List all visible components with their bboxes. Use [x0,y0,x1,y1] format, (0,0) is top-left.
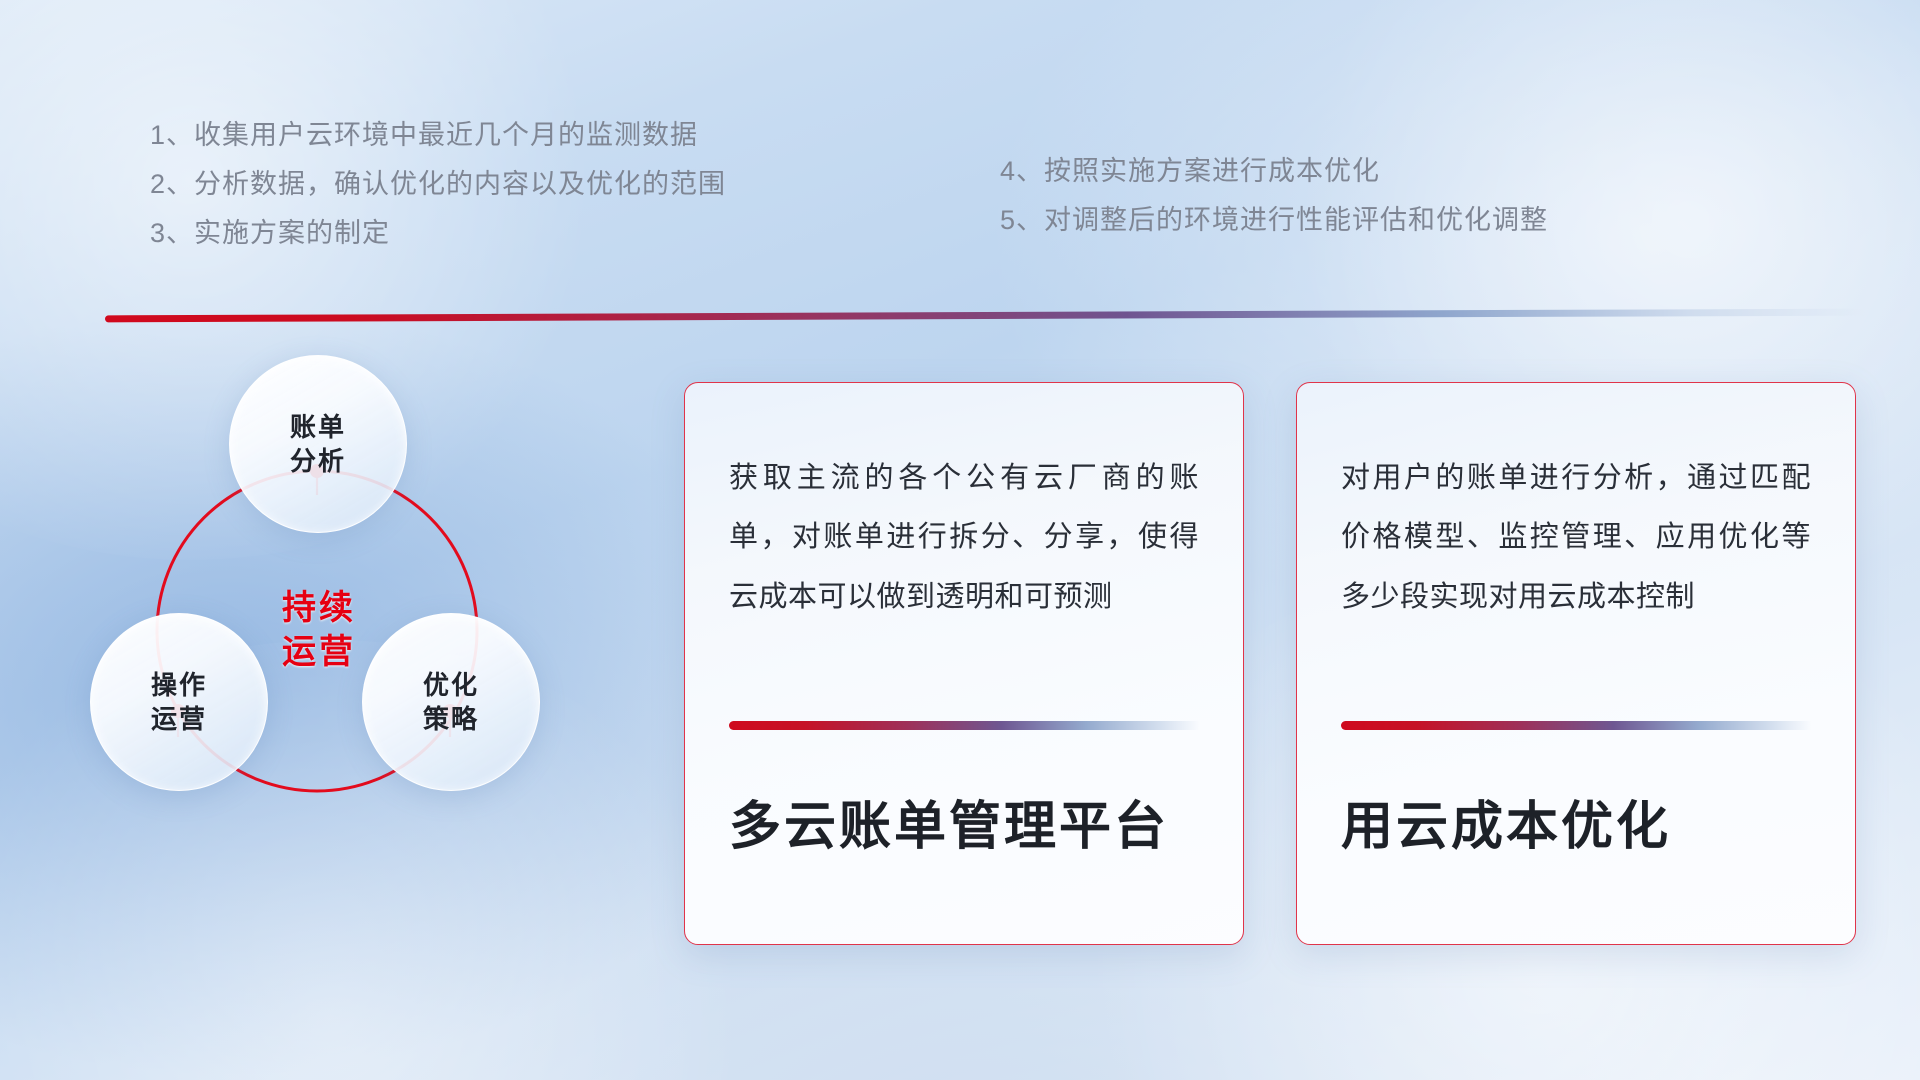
steps-right-column: 4、按照实施方案进行成本优化 5、对调整后的环境进行性能评估和优化调整 [1000,158,1548,234]
diagram-bubble-bill-analysis[interactable]: 账单 分析 [229,355,407,533]
card-title: 用云成本优化 [1341,796,1811,858]
card-body-text: 获取主流的各个公有云厂商的账单，对账单进行拆分、分享，使得云成本可以做到透明和可… [729,449,1199,707]
bubble-label-line2: 分析 [290,444,346,478]
feature-card-multicloud-billing[interactable]: 获取主流的各个公有云厂商的账单，对账单进行拆分、分享，使得云成本可以做到透明和可… [684,382,1244,945]
center-label-line1: 持续 [282,587,356,631]
card-title: 多云账单管理平台 [729,796,1199,858]
step-item-5: 5、对调整后的环境进行性能评估和优化调整 [1000,207,1548,234]
step-item-1: 1、收集用户云环境中最近几个月的监测数据 [150,122,726,149]
card-body-text: 对用户的账单进行分析，通过匹配价格模型、监控管理、应用优化等多少段实现对用云成本… [1341,449,1811,707]
bubble-label-line2: 运营 [151,702,207,736]
diagram-center-label: 持续 运营 [219,531,419,731]
continuous-operation-diagram: 账单 分析 操作 运营 优化 策略 持续 运营 [90,355,630,955]
bubble-label-line2: 策略 [423,702,479,736]
step-item-4: 4、按照实施方案进行成本优化 [1000,158,1548,185]
feature-card-cost-optimization[interactable]: 对用户的账单进行分析，通过匹配价格模型、监控管理、应用优化等多少段实现对用云成本… [1296,382,1856,945]
step-item-3: 3、实施方案的制定 [150,220,726,247]
bubble-label-line1: 优化 [423,668,479,702]
center-label-line2: 运营 [282,631,356,675]
steps-left-column: 1、收集用户云环境中最近几个月的监测数据 2、分析数据，确认优化的内容以及优化的… [150,122,726,247]
bubble-label-line1: 账单 [290,410,346,444]
slide-canvas: 1、收集用户云环境中最近几个月的监测数据 2、分析数据，确认优化的内容以及优化的… [0,0,1920,1080]
card-divider-rule [1341,721,1811,730]
section-divider-rule [105,309,1865,323]
card-divider-rule [729,721,1199,730]
step-item-2: 2、分析数据，确认优化的内容以及优化的范围 [150,171,726,198]
bubble-label-line1: 操作 [151,668,207,702]
